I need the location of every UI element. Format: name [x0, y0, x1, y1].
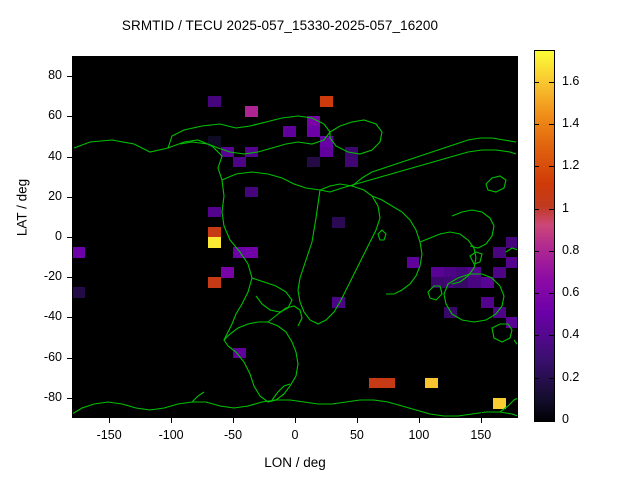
colorbar-tick-label: 0.4	[562, 327, 610, 341]
x-tick-label: -50	[203, 428, 263, 442]
x-tick	[419, 418, 420, 423]
x-tick-inner	[171, 412, 172, 417]
y-tick-inner	[73, 197, 78, 198]
x-tick-label: -150	[79, 428, 139, 442]
x-tick	[357, 418, 358, 423]
colorbar-tick	[534, 251, 539, 252]
colorbar-tick	[534, 293, 539, 294]
colorbar-gradient	[534, 50, 555, 422]
colorbar-tick-label: 0	[562, 412, 610, 426]
y-tick-label: -40	[2, 309, 62, 323]
colorbar-tick-label: 0.6	[562, 285, 610, 299]
x-tick-inner	[357, 412, 358, 417]
y-tick	[67, 277, 72, 278]
x-tick-inner	[419, 412, 420, 417]
colorbar-tick-inner	[549, 335, 554, 336]
y-tick	[67, 358, 72, 359]
y-tick-inner	[73, 76, 78, 77]
x-tick-label: 100	[389, 428, 449, 442]
y-tick-label: -80	[2, 390, 62, 404]
y-tick-inner	[73, 317, 78, 318]
colorbar-tick-inner	[549, 124, 554, 125]
x-tick-inner	[481, 412, 482, 417]
x-tick	[171, 418, 172, 423]
x-axis-label: LON / deg	[175, 455, 415, 470]
colorbar-tick-label: 1.6	[562, 74, 610, 88]
colorbar-tick-inner	[549, 293, 554, 294]
colorbar-tick-inner	[549, 166, 554, 167]
x-tick-inner	[233, 412, 234, 417]
y-tick-label: 0	[2, 229, 62, 243]
colorbar-tick	[534, 378, 539, 379]
y-tick	[67, 76, 72, 77]
y-tick-label: 80	[2, 68, 62, 82]
heatmap-plot-area	[72, 56, 518, 418]
colorbar-tick-label: 1.4	[562, 116, 610, 130]
y-tick-inner	[73, 237, 78, 238]
y-tick	[67, 197, 72, 198]
colorbar-tick	[534, 209, 539, 210]
colorbar-tick-inner	[549, 209, 554, 210]
y-tick	[67, 157, 72, 158]
x-tick	[295, 418, 296, 423]
colorbar-tick	[534, 335, 539, 336]
colorbar-tick	[534, 166, 539, 167]
colorbar-tick	[534, 420, 539, 421]
y-tick-label: 60	[2, 108, 62, 122]
y-tick-inner	[73, 358, 78, 359]
colorbar-tick	[534, 124, 539, 125]
x-tick	[481, 418, 482, 423]
x-tick	[233, 418, 234, 423]
colorbar-tick-label: 1.2	[562, 158, 610, 172]
colorbar-tick-label: 0.2	[562, 370, 610, 384]
coastline-overlay	[72, 56, 518, 418]
y-tick-inner	[73, 157, 78, 158]
y-tick	[67, 116, 72, 117]
colorbar-tick-inner	[549, 378, 554, 379]
y-tick-label: 40	[2, 149, 62, 163]
x-tick	[109, 418, 110, 423]
y-tick-inner	[73, 277, 78, 278]
y-tick	[67, 317, 72, 318]
x-tick-label: 50	[327, 428, 387, 442]
y-tick-inner	[73, 116, 78, 117]
x-tick-label: 150	[451, 428, 511, 442]
x-tick-label: -100	[141, 428, 201, 442]
y-axis-label: LAT / deg	[15, 148, 30, 268]
chart-title: SRMTID / TECU 2025-057_15330-2025-057_16…	[0, 18, 560, 33]
y-tick	[67, 237, 72, 238]
y-tick	[67, 398, 72, 399]
y-tick-label: -20	[2, 269, 62, 283]
colorbar-tick-inner	[549, 251, 554, 252]
y-tick-label: -60	[2, 350, 62, 364]
colorbar-tick	[534, 82, 539, 83]
figure-canvas: SRMTID / TECU 2025-057_15330-2025-057_16…	[0, 0, 640, 480]
coastline-paths	[72, 116, 518, 416]
x-tick-label: 0	[265, 428, 325, 442]
colorbar-tick-label: 1	[562, 201, 610, 215]
y-tick-label: 20	[2, 189, 62, 203]
colorbar-tick-label: 0.8	[562, 243, 610, 257]
colorbar-tick-inner	[549, 420, 554, 421]
x-tick-inner	[295, 412, 296, 417]
y-tick-inner	[73, 398, 78, 399]
x-tick-inner	[109, 412, 110, 417]
colorbar-tick-inner	[549, 82, 554, 83]
